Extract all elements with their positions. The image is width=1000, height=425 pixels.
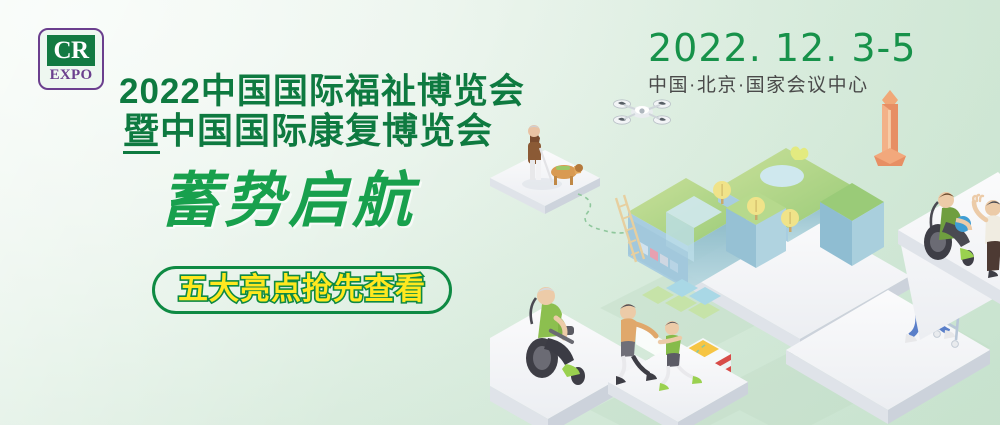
cr-expo-logo[interactable]: CR EXPO [38,28,104,90]
headline-line-2-prefix: 暨 [123,110,160,154]
headline-line-2: 暨中国国际康复博览会 [105,111,545,150]
logo-mark-text: CR [47,35,95,66]
cta-button-label: 五大亮点抢先查看 [178,274,426,306]
slogan: 蓄势启航 [160,168,416,234]
headline-line-2-rest: 中国国际康复博览会 [160,110,493,151]
monument-tower [874,90,906,166]
drone [614,100,671,124]
cta-button[interactable]: 五大亮点抢先查看 [152,266,452,314]
logo-sub-text: EXPO [50,67,93,84]
expo-banner: CR EXPO 2022中国国际福祉博览会 暨中国国际康复博览会 蓄势启航 五大… [0,0,1000,425]
event-date: 2022. 12. 3-5 [648,26,916,70]
isometric-illustration [490,90,1000,425]
headline-line-1: 2022中国国际福祉博览会 [105,72,545,111]
headline: 2022中国国际福祉博览会 暨中国国际康复博览会 [105,72,545,150]
